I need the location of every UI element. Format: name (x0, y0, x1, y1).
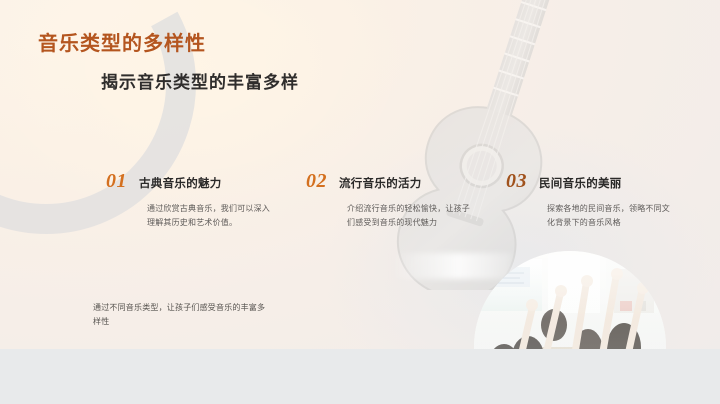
content-item-3: 03 民间音乐的美丽 探索各地的民间音乐，领略不同文化背景下的音乐风格 (506, 170, 706, 230)
content-item-3-number: 03 (506, 170, 527, 193)
content-item-1-body: 通过欣赏古典音乐，我们可以深入理解其历史和艺术价值。 (147, 202, 271, 230)
page-title: 音乐类型的多样性 (38, 27, 206, 56)
content-item-2-body: 介绍流行音乐的轻松愉快，让孩子们感受到音乐的现代魅力 (347, 202, 471, 230)
content-item-2-number: 02 (306, 170, 327, 193)
content-item-3-body: 探索各地的民间音乐，领略不同文化背景下的音乐风格 (547, 202, 671, 230)
content-item-1: 01 古典音乐的魅力 通过欣赏古典音乐，我们可以深入理解其历史和艺术价值。 (106, 170, 306, 230)
content-item-3-title: 民间音乐的美丽 (539, 175, 622, 191)
content-item-1-number: 01 (106, 170, 127, 193)
presentation-slide: 音乐类型的多样性 揭示音乐类型的丰富多样 01 古典音乐的魅力 通过欣赏古典音乐… (0, 0, 720, 349)
photo-light-overlay (474, 251, 666, 349)
content-item-1-title: 古典音乐的魅力 (139, 175, 222, 191)
slide-viewport: 音乐类型的多样性 揭示音乐类型的丰富多样 01 古典音乐的魅力 通过欣赏古典音乐… (0, 0, 720, 404)
content-item-3-header: 03 民间音乐的美丽 (506, 170, 706, 193)
classroom-students-raising-hands-photo (474, 251, 666, 349)
summary-caption: 通过不同音乐类型，让孩子们感受音乐的丰富多样性 (93, 301, 273, 330)
content-item-2-title: 流行音乐的活力 (339, 175, 422, 191)
content-item-2-header: 02 流行音乐的活力 (306, 170, 506, 193)
acoustic-guitar-icon (330, 0, 660, 290)
page-subtitle: 揭示音乐类型的丰富多样 (101, 68, 299, 93)
content-item-1-header: 01 古典音乐的魅力 (106, 170, 306, 193)
content-item-2: 02 流行音乐的活力 介绍流行音乐的轻松愉快，让孩子们感受到音乐的现代魅力 (306, 170, 506, 230)
